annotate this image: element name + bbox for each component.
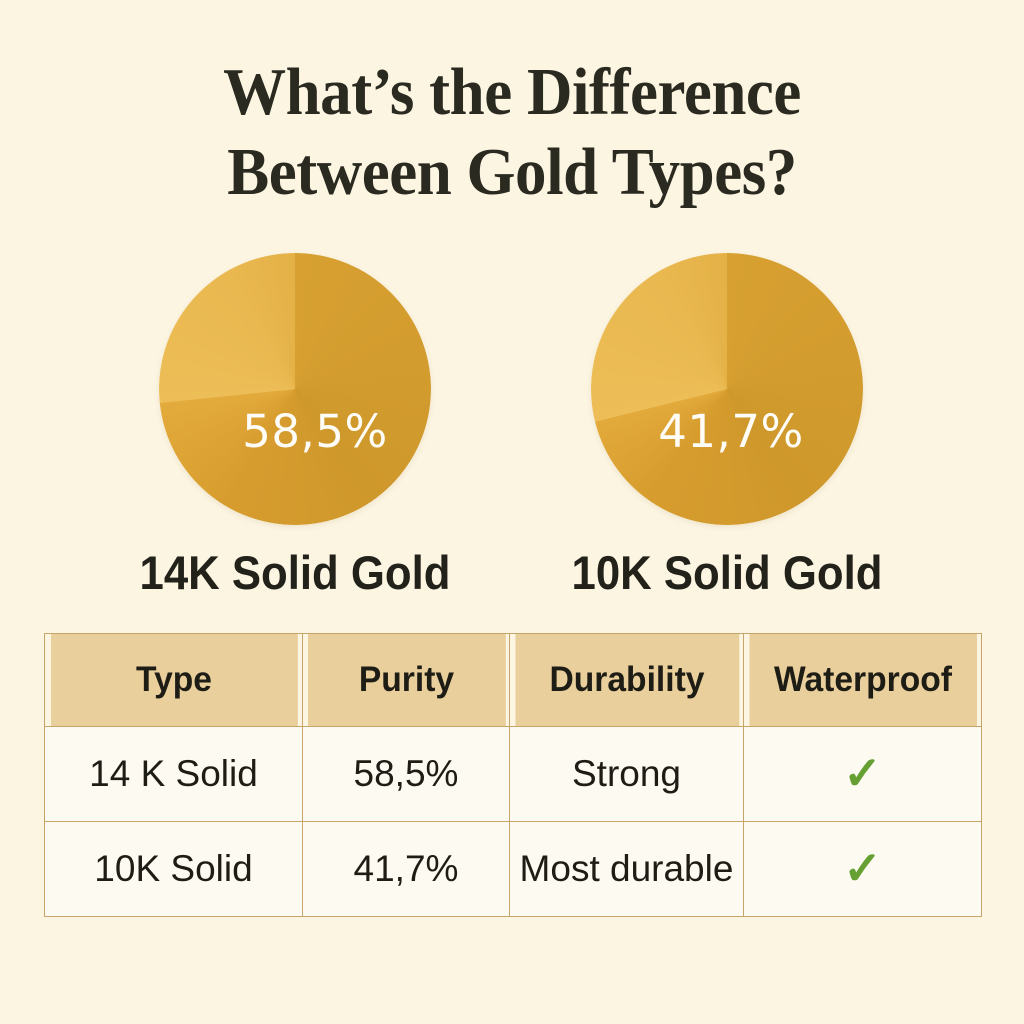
pie-slice-dark-10k xyxy=(591,253,863,525)
column-header-durability: Durability xyxy=(514,634,739,727)
table-header-row: Type Purity Durability Waterproof xyxy=(45,634,982,727)
pie-caption-10k: 10K Solid Gold xyxy=(527,545,927,600)
pie-value-14k: 58,5% xyxy=(159,405,431,458)
check-icon: ✓ xyxy=(843,845,882,891)
pie-chart-10k: 41,7% xyxy=(591,253,863,525)
infographic-canvas: What’s the Difference Between Gold Types… xyxy=(0,0,1024,1024)
title-line-2: Between Gold Types? xyxy=(31,132,994,212)
table-row: 14 K Solid 58,5% Strong ✓ xyxy=(45,727,982,822)
cell-type: 10K Solid xyxy=(45,822,303,917)
pie-slice-dark-14k xyxy=(159,253,431,525)
cell-purity: 41,7% xyxy=(303,822,510,917)
check-icon: ✓ xyxy=(843,750,882,796)
pie-caption-14k: 14K Solid Gold xyxy=(95,545,495,600)
column-header-type: Type xyxy=(50,634,298,727)
cell-durability: Most durable xyxy=(510,822,744,917)
page-title: What’s the Difference Between Gold Types… xyxy=(0,52,1024,212)
pie-value-10k: 41,7% xyxy=(591,405,863,458)
pie-graphic-14k: 58,5% xyxy=(159,253,431,525)
cell-waterproof: ✓ xyxy=(744,727,982,822)
cell-type: 14 K Solid xyxy=(45,727,303,822)
pie-chart-group: 58,5% 41,7% 14K Solid Gold 10K Solid Gol… xyxy=(0,253,1024,533)
cell-purity: 58,5% xyxy=(303,727,510,822)
column-header-waterproof: Waterproof xyxy=(748,634,976,727)
title-line-1: What’s the Difference xyxy=(31,52,994,132)
pie-chart-14k: 58,5% xyxy=(159,253,431,525)
pie-graphic-10k: 41,7% xyxy=(591,253,863,525)
table-row: 10K Solid 41,7% Most durable ✓ xyxy=(45,822,982,917)
cell-waterproof: ✓ xyxy=(744,822,982,917)
column-header-purity: Purity xyxy=(307,634,506,727)
cell-durability: Strong xyxy=(510,727,744,822)
comparison-table: Type Purity Durability Waterproof 14 K S… xyxy=(44,633,982,917)
